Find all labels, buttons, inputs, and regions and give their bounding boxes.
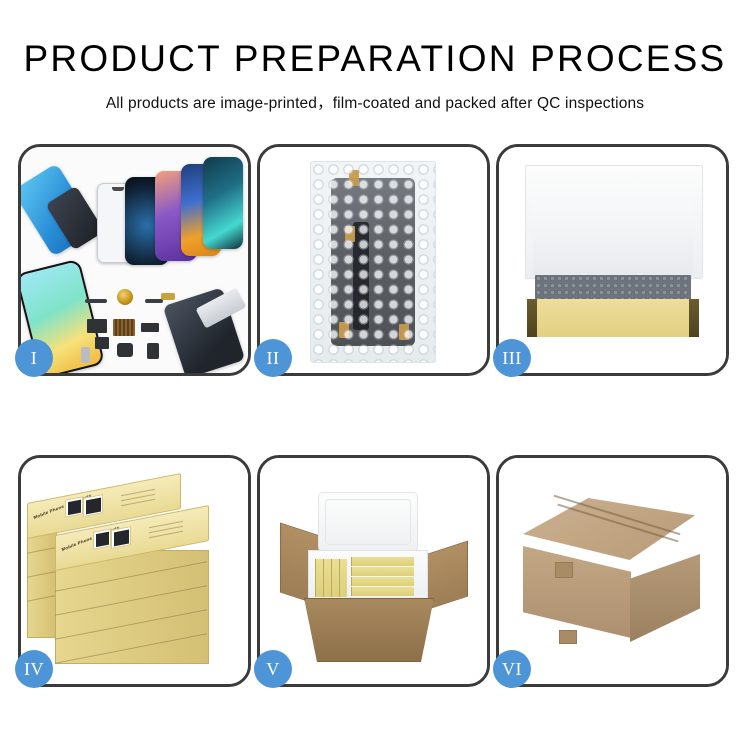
process-step-4[interactable]: Mobile Phone Spare Parts Mobile Phone Sp… <box>18 455 251 687</box>
phone-display-teal <box>203 157 243 249</box>
box-screen-thumb <box>93 528 111 549</box>
styrofoam-liner <box>308 550 428 604</box>
gold-connector-part <box>161 293 175 300</box>
button-part <box>95 337 109 349</box>
packed-box <box>339 559 347 597</box>
box-tray-edge-left <box>527 299 537 337</box>
box-tray-edge-right <box>689 299 699 337</box>
box-screen-thumb <box>83 494 103 517</box>
sim-tray-part <box>81 347 90 363</box>
inner-box-photo <box>499 147 726 373</box>
page-header: PRODUCT PREPARATION PROCESS All products… <box>0 0 750 113</box>
process-step-6[interactable]: VI <box>496 455 729 687</box>
camera-module-part <box>87 319 107 333</box>
packed-box <box>351 577 414 586</box>
speaker-coil-part <box>117 289 133 305</box>
box-lid-inner-panel <box>533 203 693 275</box>
stacked-boxes-photo: Mobile Phone Spare Parts Mobile Phone Sp… <box>21 458 248 684</box>
packed-box <box>351 587 414 596</box>
carton-front-face <box>523 546 631 638</box>
box-screen-thumb <box>65 496 83 517</box>
ic-chip-part <box>113 319 135 336</box>
step-badge-1: I <box>15 339 53 377</box>
carton-foam-photo <box>260 458 487 684</box>
packed-box <box>351 567 414 576</box>
carton-hand-hole <box>555 562 573 578</box>
process-step-2[interactable]: II <box>257 144 490 376</box>
box-tray-yellow <box>527 299 699 337</box>
flex-cable-part <box>145 299 163 303</box>
phone-parts-photo <box>21 147 248 373</box>
box-screen-thumb <box>111 526 131 549</box>
bubble-wrap-photo <box>260 147 487 373</box>
packed-box <box>315 559 323 597</box>
process-step-3[interactable]: III <box>496 144 729 376</box>
packed-box <box>331 559 339 597</box>
step-badge-4: IV <box>15 650 53 688</box>
bubble-texture <box>311 162 435 362</box>
sensor-part <box>141 323 159 332</box>
step-badge-6: VI <box>493 650 531 688</box>
styrofoam-lid <box>318 492 418 552</box>
process-step-5[interactable]: V <box>257 455 490 687</box>
step-badge-3: III <box>493 339 531 377</box>
process-grid: I II III <box>18 144 734 681</box>
carton-side-face <box>630 554 700 642</box>
vibrator-part <box>147 343 159 359</box>
packed-box <box>323 559 331 597</box>
packed-box <box>351 557 414 566</box>
step-badge-5: V <box>254 650 292 688</box>
bubble-wrap-bag <box>310 161 436 363</box>
sealed-carton-photo <box>499 458 726 684</box>
speaker-part <box>117 343 133 357</box>
shipping-carton-open <box>304 598 434 662</box>
page-title: PRODUCT PREPARATION PROCESS <box>0 40 750 77</box>
page-subtitle: All products are image-printed，film-coat… <box>0 91 750 113</box>
flex-cable-part <box>85 299 107 303</box>
carton-hand-hole <box>559 630 577 644</box>
step-badge-2: II <box>254 339 292 377</box>
process-step-1[interactable]: I <box>18 144 251 376</box>
